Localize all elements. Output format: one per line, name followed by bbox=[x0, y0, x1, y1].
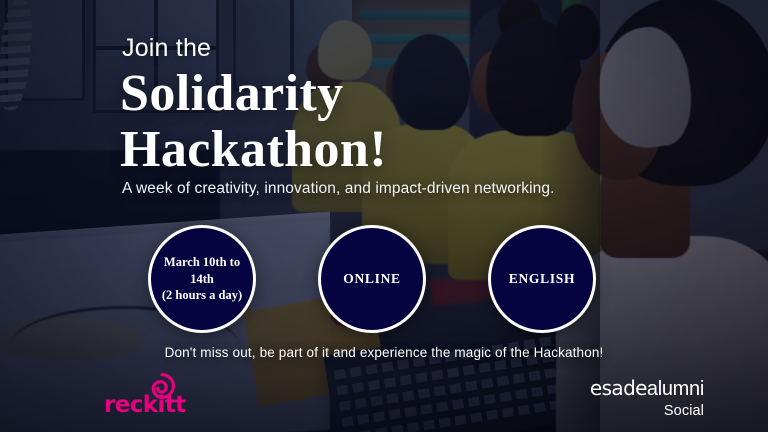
badge-dates: March 10th to 14th (2 hours a day) bbox=[148, 225, 256, 333]
organizer-logo-subtitle: Social bbox=[590, 404, 704, 419]
sponsor-logo-wordmark: reckitt bbox=[104, 394, 186, 417]
badge-format: ONLINE bbox=[318, 225, 426, 333]
organizer-logo-part-1: esade bbox=[590, 376, 647, 400]
badge-language-label: ENGLISH bbox=[509, 271, 575, 287]
headline-line-1: Solidarity bbox=[120, 65, 344, 122]
eyebrow-text: Join the bbox=[122, 36, 211, 61]
badge-format-label: ONLINE bbox=[343, 271, 400, 287]
call-to-action-text: Don't miss out, be part of it and experi… bbox=[165, 345, 604, 360]
promo-banner: Join the Solidarity Hackathon! A week of… bbox=[0, 0, 768, 432]
badge-group: March 10th to 14th (2 hours a day) ONLIN… bbox=[148, 225, 596, 333]
page-title: Solidarity Hackathon! bbox=[120, 66, 680, 178]
badge-dates-line-1: March 10th to 14th bbox=[151, 254, 253, 288]
organizer-logo: esadealumni Social bbox=[590, 378, 704, 419]
organizer-logo-wordmark: esadealumni bbox=[590, 378, 704, 399]
sponsor-logo: reckitt bbox=[104, 372, 222, 422]
subtitle-text: A week of creativity, innovation, and im… bbox=[122, 180, 554, 198]
organizer-logo-part-2: alumni bbox=[647, 378, 704, 400]
badge-dates-line-2: (2 hours a day) bbox=[162, 287, 242, 304]
banner-content: Join the Solidarity Hackathon! A week of… bbox=[0, 0, 768, 432]
badge-language: ENGLISH bbox=[488, 225, 596, 333]
headline-line-2: Hackathon! bbox=[120, 122, 680, 178]
